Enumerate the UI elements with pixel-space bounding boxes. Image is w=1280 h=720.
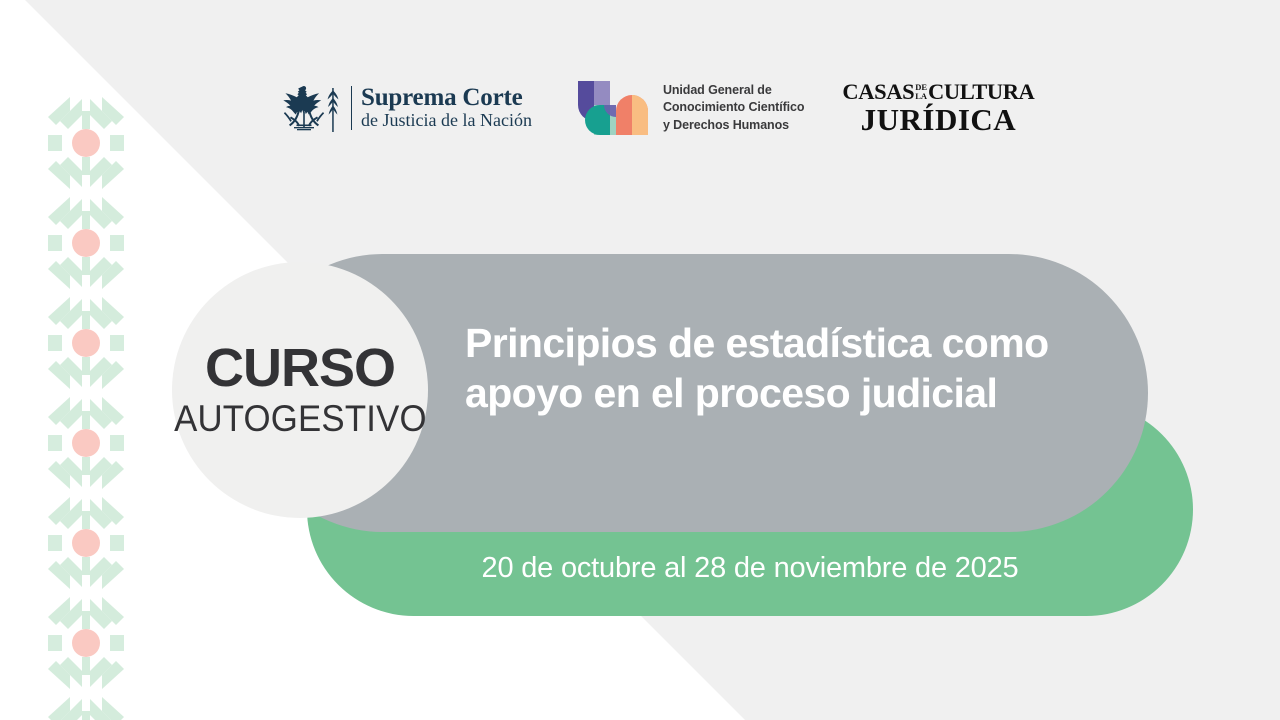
ugccdh-wordmark: Unidad General de Conocimiento Científic… xyxy=(663,82,804,134)
course-dates: 20 de octubre al 28 de noviembre de 2025 xyxy=(307,552,1193,585)
floral-chevron-motif xyxy=(42,295,130,391)
ugccdh-line-2: Conocimiento Científico xyxy=(663,99,804,116)
la-word: LA xyxy=(915,92,927,101)
floral-chevron-motif xyxy=(42,95,130,191)
logo-casas-cultura-juridica: CASAS DE LA CULTURA JURÍDICA xyxy=(842,81,1034,136)
logo-unidad-general: Unidad General de Conocimiento Científic… xyxy=(572,77,804,139)
ugccdh-line-1: Unidad General de xyxy=(663,82,804,99)
floral-chevron-motif xyxy=(42,695,130,720)
floral-chevron-motif xyxy=(42,595,130,691)
course-poster: Suprema Corte de Justicia de la Nación xyxy=(0,0,1280,720)
scjn-wordmark: Suprema Corte de Justicia de la Nación xyxy=(351,86,532,130)
floral-chevron-motif xyxy=(42,495,130,591)
ugccdh-line-3: y Derechos Humanos xyxy=(663,117,804,134)
badge-autogestivo-label: AUTOGESTIVO xyxy=(174,399,427,440)
course-type-badge: CURSO AUTOGESTIVO xyxy=(172,262,428,518)
juridica-word: JURÍDICA xyxy=(842,104,1034,135)
casas-word: CASAS xyxy=(842,81,914,104)
logo-suprema-corte: Suprema Corte de Justicia de la Nación xyxy=(268,82,532,134)
ugccdh-mark-icon xyxy=(572,77,652,139)
floral-chevron-motif xyxy=(42,195,130,291)
badge-curso-label: CURSO xyxy=(205,341,395,395)
casas-cultura-line-1: CASAS DE LA CULTURA xyxy=(842,81,1034,104)
decorative-pattern-strip xyxy=(42,95,130,720)
scjn-line-1: Suprema Corte xyxy=(361,85,532,111)
scjn-line-2: de Justicia de la Nación xyxy=(361,110,532,131)
logo-row: Suprema Corte de Justicia de la Nación xyxy=(268,72,1034,144)
de-la-stack: DE LA xyxy=(914,81,928,101)
cultura-word: CULTURA xyxy=(928,81,1034,104)
course-title: Principios de estadística como apoyo en … xyxy=(465,318,1065,418)
eagle-emblem-icon xyxy=(268,82,342,134)
floral-chevron-motif xyxy=(42,395,130,491)
